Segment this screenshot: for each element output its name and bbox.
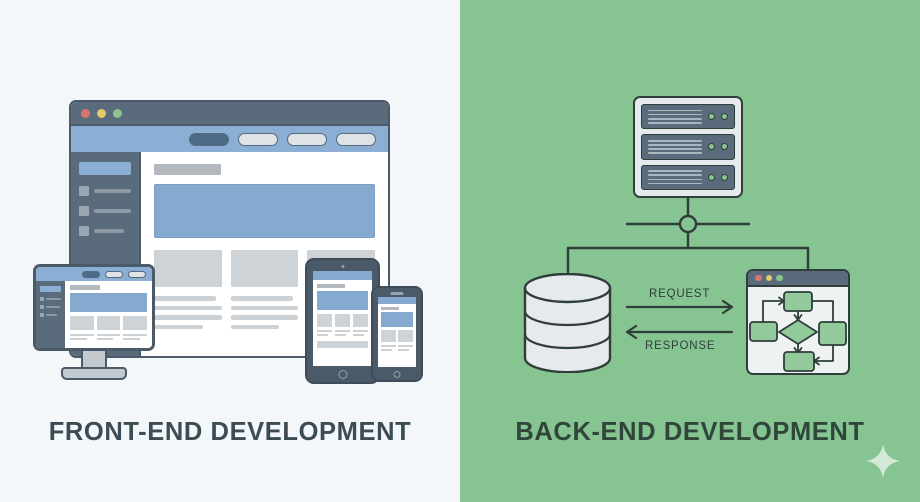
monitor-nav-pill <box>82 271 100 278</box>
sidebar-row <box>79 226 131 236</box>
content-text-column <box>154 296 222 334</box>
tablet-device <box>305 258 380 384</box>
monitor-nav-pill <box>128 271 146 278</box>
close-dot-icon <box>755 275 762 282</box>
tablet-nav-bar <box>313 271 372 280</box>
nav-pill-3 <box>287 133 327 146</box>
monitor-sidebar <box>36 281 65 348</box>
phone-speaker-icon <box>391 292 404 295</box>
server-rack <box>633 96 743 198</box>
close-dot-icon <box>81 109 90 118</box>
server-led-icon <box>721 113 728 120</box>
flowchart-window <box>746 269 850 375</box>
hub-node-icon <box>680 216 696 232</box>
sidebar-active-highlight <box>79 162 131 175</box>
request-arrow-label: REQUEST <box>649 288 710 300</box>
comparison-infographic: FRONT-END DEVELOPMENT <box>0 0 920 502</box>
monitor-stand <box>81 351 107 369</box>
flow-node-decision <box>779 320 817 344</box>
front-end-caption: FRONT-END DEVELOPMENT <box>0 418 460 447</box>
browser-nav-bar <box>71 126 388 152</box>
server-unit-vents <box>648 107 702 126</box>
front-end-panel: FRONT-END DEVELOPMENT <box>0 0 460 502</box>
monitor-nav-bar <box>36 267 152 281</box>
monitor-content <box>65 281 152 348</box>
sidebar-row <box>79 186 131 196</box>
smartphone-device <box>371 286 423 382</box>
content-title-block <box>154 164 221 175</box>
flowchart-titlebar <box>748 271 848 287</box>
flow-node-left <box>750 322 777 341</box>
content-card <box>231 250 299 287</box>
monitor-screen <box>33 264 155 351</box>
tablet-screen <box>313 271 372 366</box>
server-unit <box>641 165 735 190</box>
server-led-icon <box>708 113 715 120</box>
server-led-icon <box>708 143 715 150</box>
sidebar-item-icon <box>79 186 89 196</box>
back-end-panel: REQUEST RESPONSE BACK-END DEVELOPMENT <box>460 0 920 502</box>
maximize-dot-icon <box>113 109 122 118</box>
sidebar-row <box>79 206 131 216</box>
phone-nav-bar <box>378 297 416 304</box>
sidebar-item-label-bar <box>94 209 131 213</box>
nav-pill-2 <box>238 133 278 146</box>
sparkle-icon <box>864 442 902 480</box>
monitor-body <box>36 281 152 348</box>
flow-node-end <box>784 352 814 371</box>
sidebar-item-icon <box>79 206 89 216</box>
sidebar-item-label-bar <box>94 229 124 233</box>
minimize-dot-icon <box>766 275 773 282</box>
phone-screen <box>378 297 416 367</box>
flow-node-right <box>819 322 846 345</box>
browser-titlebar <box>71 102 388 126</box>
server-unit <box>641 104 735 129</box>
content-text-column <box>231 296 299 334</box>
response-arrow-label: RESPONSE <box>645 340 715 352</box>
back-end-caption: BACK-END DEVELOPMENT <box>460 418 920 447</box>
server-led-icon <box>708 174 715 181</box>
server-unit <box>641 134 735 159</box>
content-hero-block <box>154 184 375 238</box>
desktop-monitor <box>33 264 155 381</box>
flowchart-canvas <box>748 287 848 373</box>
sidebar-item-label-bar <box>94 189 131 193</box>
server-led-icon <box>721 143 728 150</box>
database-cylinder-icon <box>522 273 613 373</box>
monitor-nav-pill <box>105 271 123 278</box>
server-unit-vents <box>648 137 702 156</box>
content-card <box>154 250 222 287</box>
phone-home-button[interactable] <box>394 371 401 378</box>
minimize-dot-icon <box>97 109 106 118</box>
nav-pill-4 <box>336 133 376 146</box>
tablet-camera-icon <box>341 265 344 268</box>
maximize-dot-icon <box>776 275 783 282</box>
tablet-home-button[interactable] <box>338 370 347 379</box>
sidebar-item-icon <box>79 226 89 236</box>
server-led-icon <box>721 174 728 181</box>
flow-node-start <box>784 292 812 311</box>
server-unit-vents <box>648 168 702 187</box>
nav-pill-1 <box>189 133 229 146</box>
